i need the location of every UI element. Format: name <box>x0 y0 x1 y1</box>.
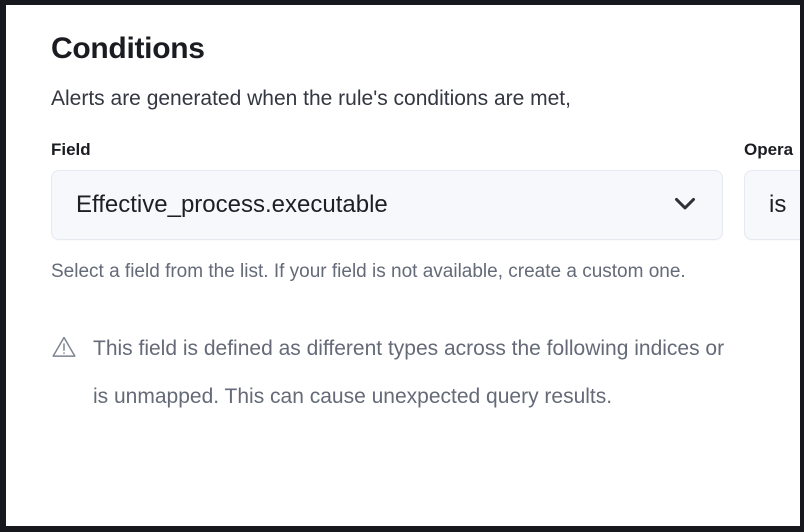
field-select[interactable]: Effective_process.executable <box>51 170 723 240</box>
operator-select[interactable]: is <box>744 170 800 240</box>
section-description: Alerts are generated when the rule's con… <box>51 67 800 112</box>
warning-message: This field is defined as different types… <box>93 325 741 421</box>
condition-row: Field Effective_process.executable Opera <box>51 112 800 240</box>
chevron-down-icon[interactable] <box>668 186 702 225</box>
field-select-value: Effective_process.executable <box>76 191 656 219</box>
field-helper-text: Select a field from the list. If your fi… <box>51 240 691 287</box>
conditions-panel: Conditions Alerts are generated when the… <box>6 5 800 526</box>
page-viewport: Conditions Alerts are generated when the… <box>6 5 800 526</box>
page-title: Conditions <box>51 5 800 67</box>
screenshot-frame: Conditions Alerts are generated when the… <box>0 0 804 532</box>
warning-triangle-icon <box>51 334 77 365</box>
field-warning: This field is defined as different types… <box>51 287 741 421</box>
operator-column: Opera is <box>744 140 800 240</box>
field-column: Field Effective_process.executable <box>51 140 723 240</box>
field-label: Field <box>51 140 723 170</box>
operator-label: Opera <box>744 140 800 170</box>
operator-select-value: is <box>769 191 800 219</box>
